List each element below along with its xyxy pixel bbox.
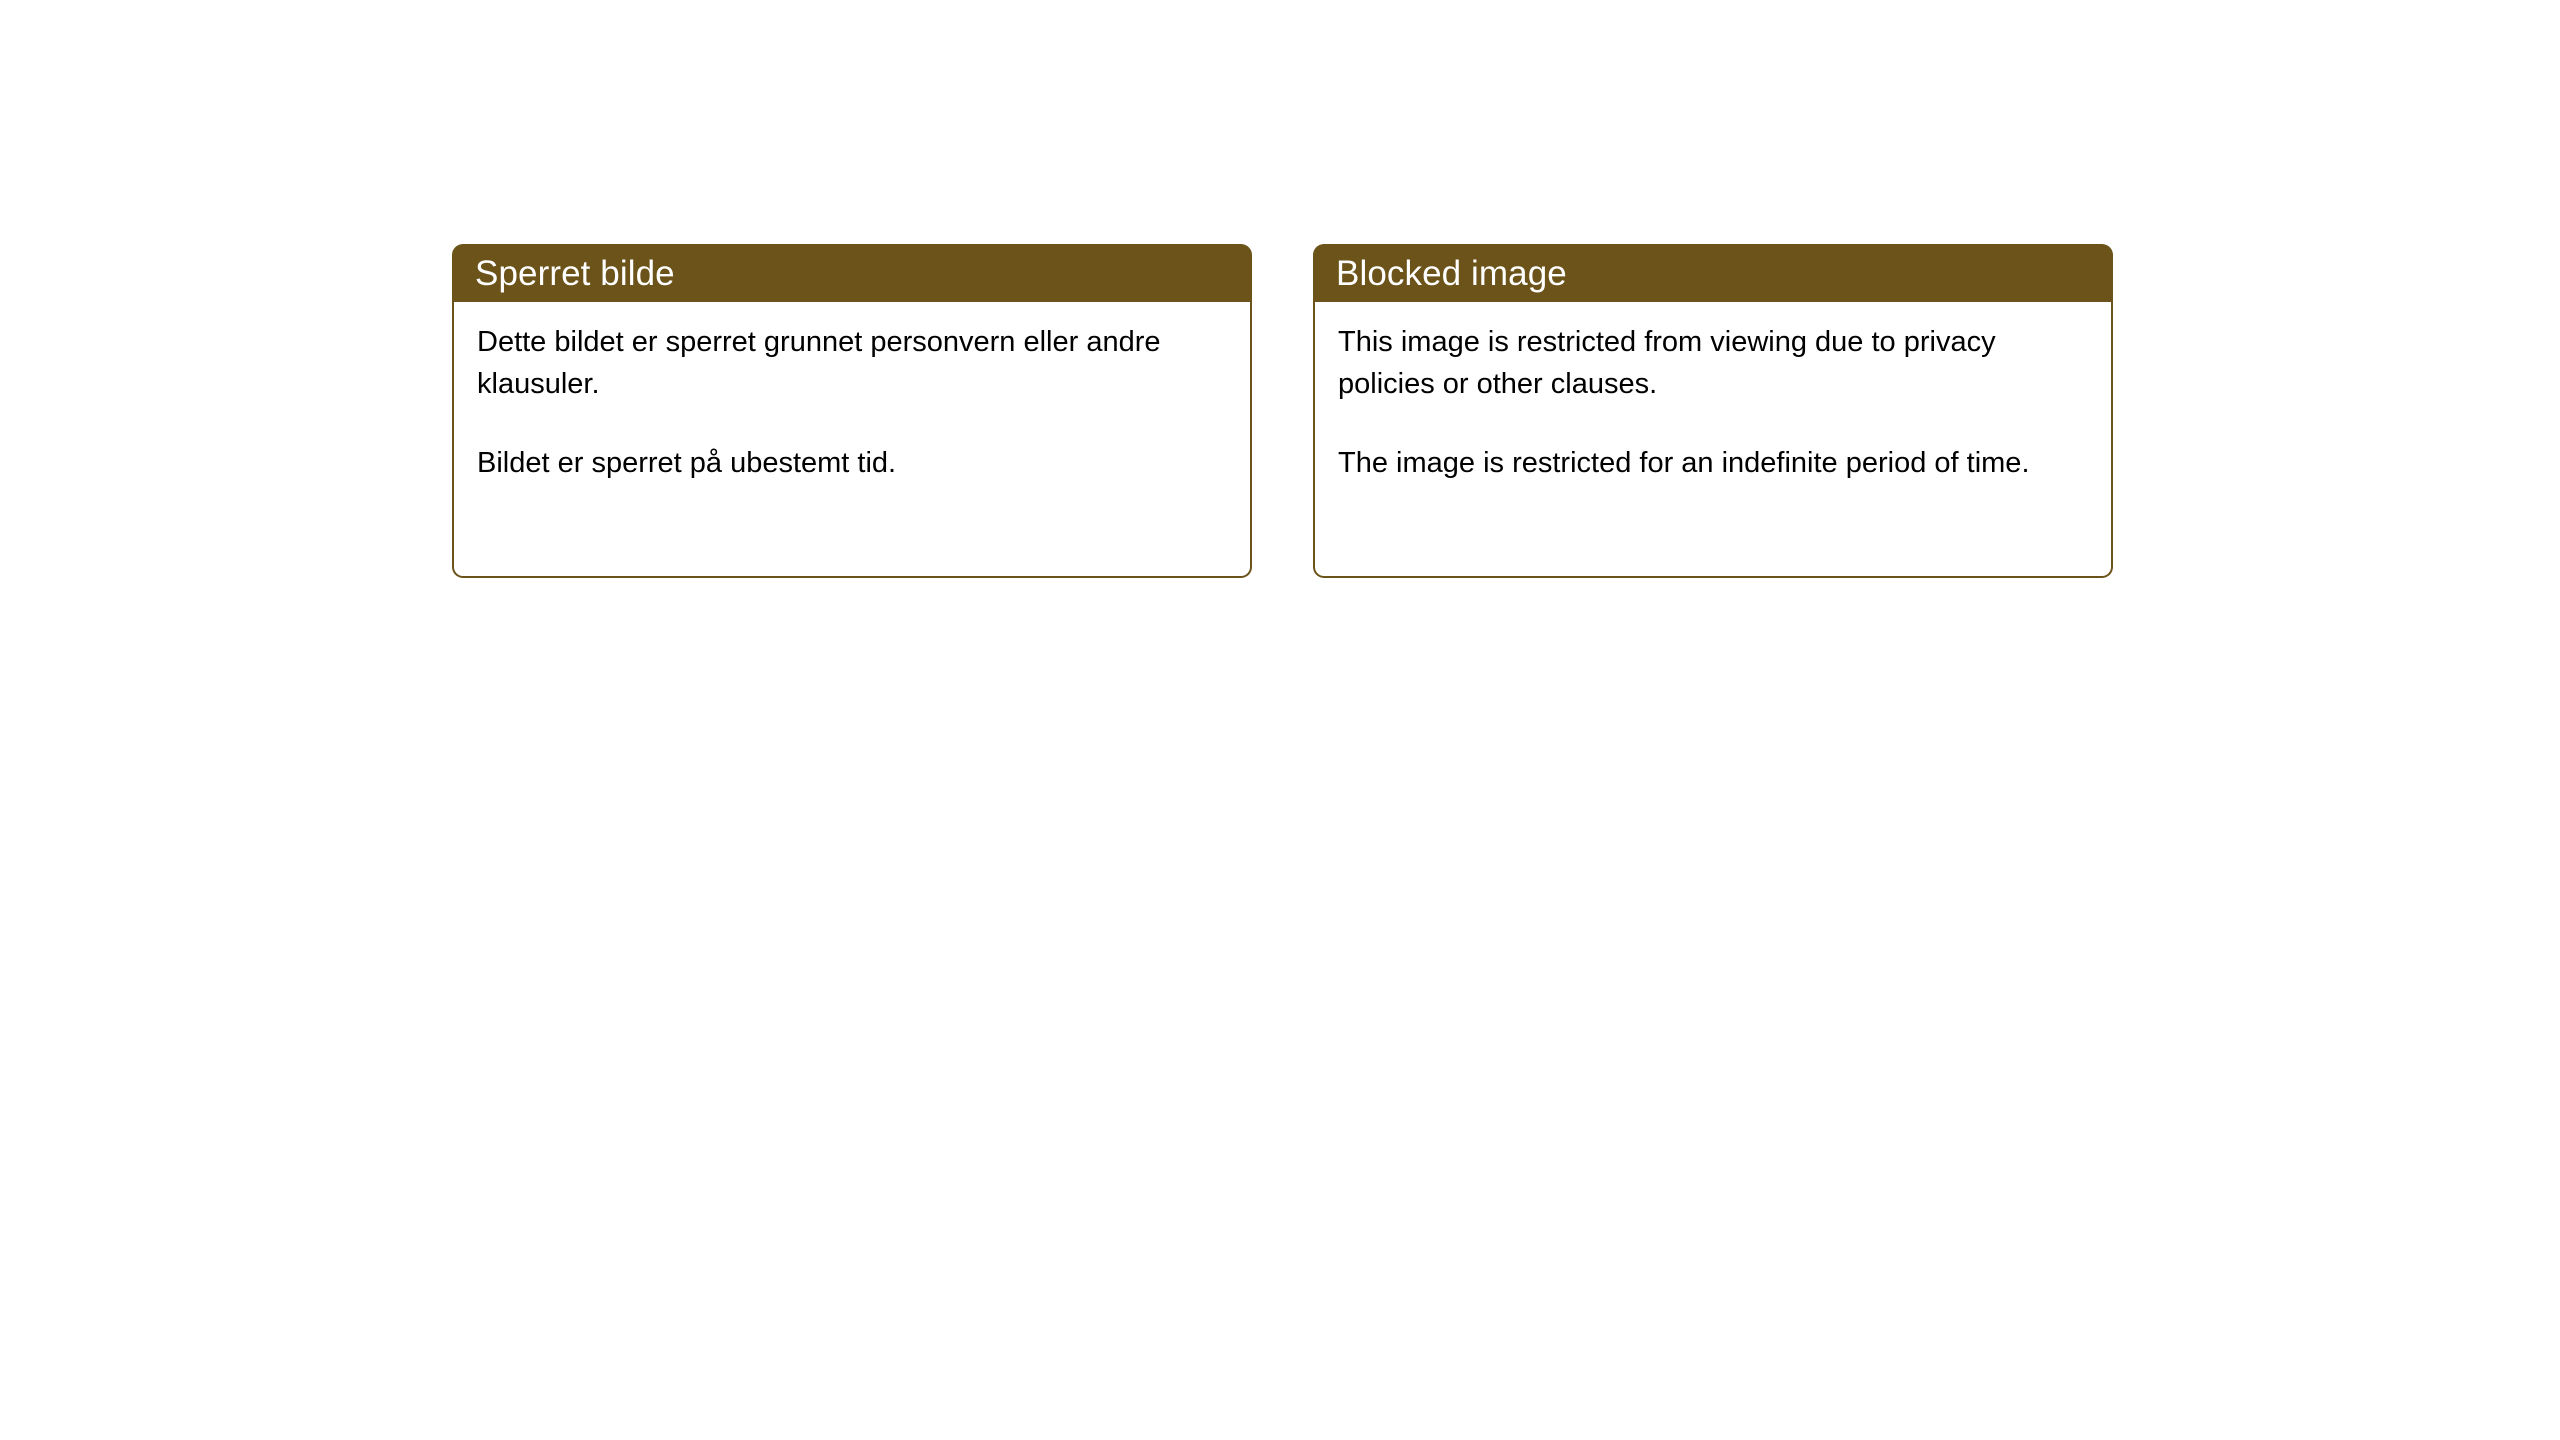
panel-body-norwegian: Dette bildet er sperret grunnet personve… [452,302,1252,578]
notice-paragraph-secondary-norwegian: Bildet er sperret på ubestemt tid. [477,442,1228,484]
notice-paragraph-primary-english: This image is restricted from viewing du… [1338,321,2089,405]
blocked-image-notice-norwegian: Sperret bilde Dette bildet er sperret gr… [452,244,1252,578]
panel-header-english: Blocked image [1313,244,2113,302]
notice-paragraph-secondary-english: The image is restricted for an indefinit… [1338,442,2089,484]
paragraph-spacer [1338,405,2089,442]
paragraph-spacer [477,405,1228,442]
panel-title-english: Blocked image [1336,256,1567,291]
panel-header-norwegian: Sperret bilde [452,244,1252,302]
page-canvas: Sperret bilde Dette bildet er sperret gr… [0,0,2560,1440]
notice-paragraph-primary-norwegian: Dette bildet er sperret grunnet personve… [477,321,1228,405]
blocked-image-notice-english: Blocked image This image is restricted f… [1313,244,2113,578]
panel-title-norwegian: Sperret bilde [475,256,675,291]
panel-body-english: This image is restricted from viewing du… [1313,302,2113,578]
